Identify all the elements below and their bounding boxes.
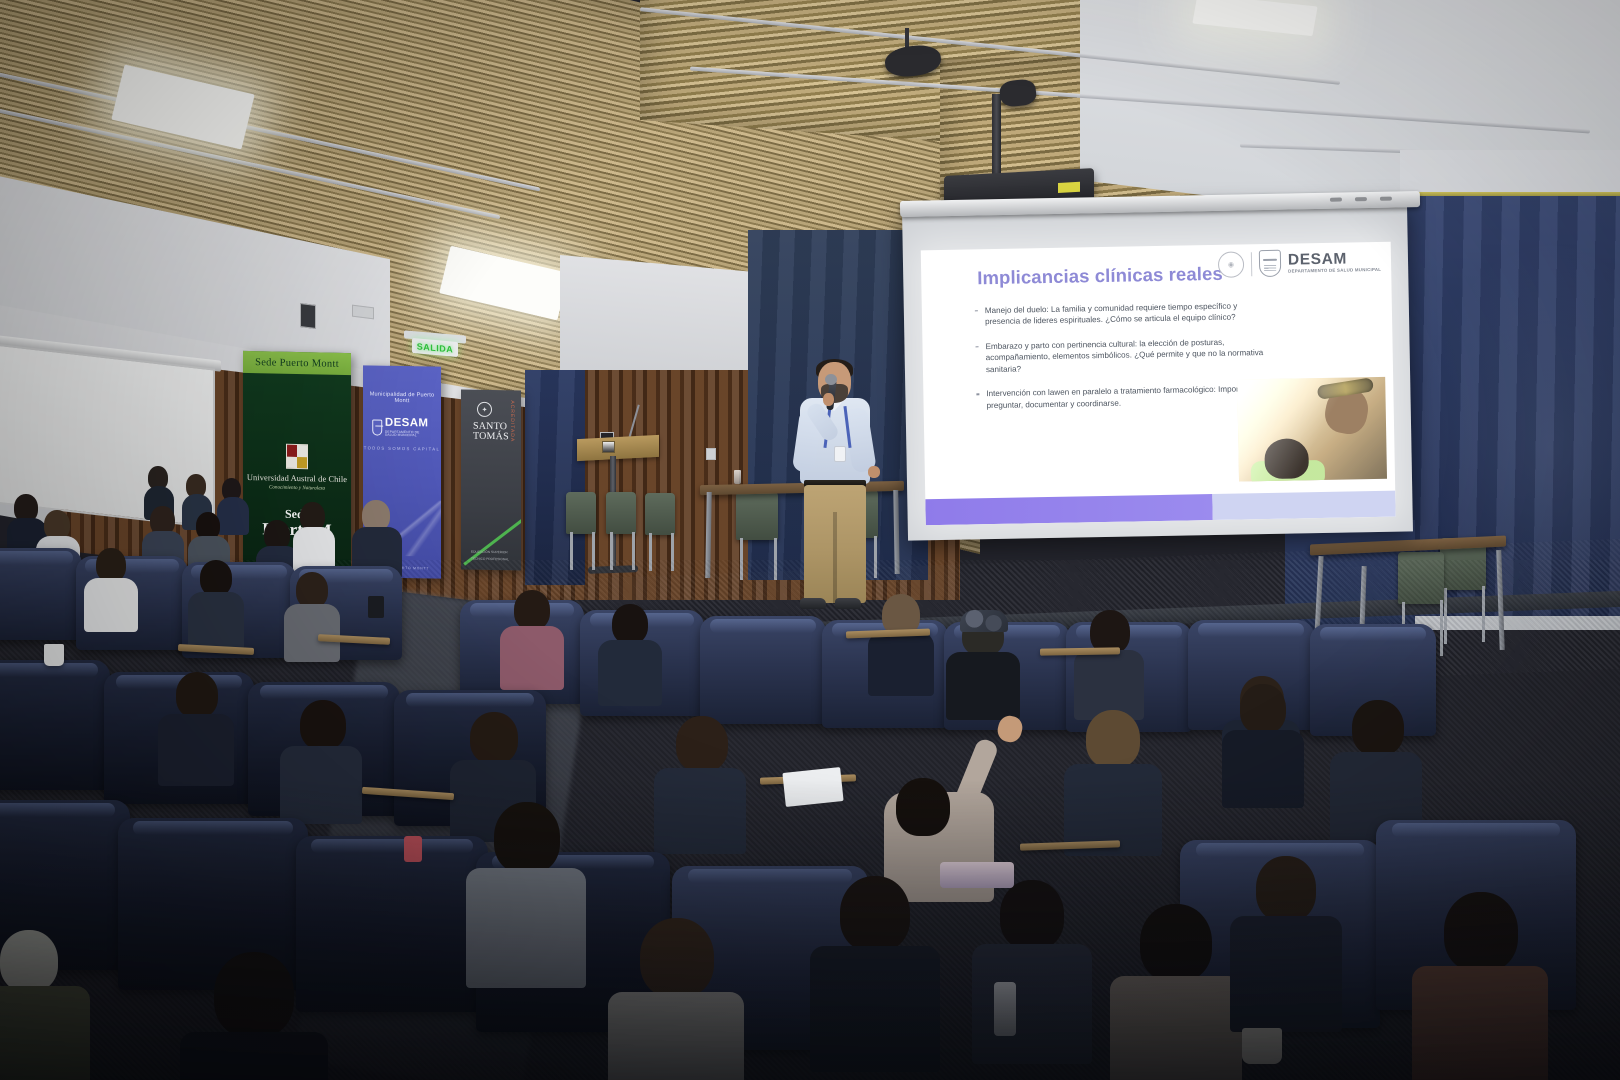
banner-uach-university: Universidad Austral de Chile bbox=[243, 473, 351, 484]
santo-tomas-seal-icon: ✦ bbox=[477, 402, 492, 417]
projector-mount-pole bbox=[992, 94, 1001, 180]
notebook bbox=[782, 767, 843, 807]
projector-label bbox=[1058, 182, 1080, 193]
microphone-head-icon bbox=[825, 374, 837, 385]
slide-accent-bar bbox=[925, 491, 1395, 526]
banner-st-side-text: ACREDITADA bbox=[509, 400, 515, 442]
camo-cap-icon bbox=[960, 610, 1008, 632]
banner-desam-word: DESAM bbox=[385, 418, 432, 430]
slide-logo-group: ◉ DESAM DEPARTAMENTO DE SALUD MUNICIPAL bbox=[1218, 248, 1382, 278]
slide-title: Implicancias clínicas reales bbox=[977, 263, 1223, 289]
lectern-control-panel bbox=[602, 441, 615, 453]
water-bottle bbox=[994, 982, 1016, 1036]
stage-chair bbox=[566, 492, 596, 534]
presenter bbox=[780, 362, 890, 614]
wall-speaker-box bbox=[352, 305, 374, 320]
screen-knob bbox=[1380, 197, 1392, 201]
logo-divider bbox=[1251, 252, 1252, 276]
presenter-hand bbox=[823, 393, 834, 406]
phone bbox=[368, 596, 384, 618]
auditorium-scene: SALIDA Implicancias clínicas reales ◉ DE… bbox=[0, 0, 1620, 1080]
desam-word: DESAM bbox=[1288, 250, 1381, 267]
slide-photo bbox=[1237, 377, 1387, 482]
stage-backdrop-left bbox=[525, 370, 585, 585]
desam-shield-icon bbox=[1259, 250, 1281, 277]
uach-crest-icon bbox=[286, 444, 308, 469]
banner-desam-logo: DESAM DEPARTAMENTO DE SALUD MUNICIPAL bbox=[372, 417, 432, 438]
coffee-cup bbox=[44, 644, 64, 666]
seat[interactable] bbox=[296, 836, 488, 1012]
banner-st-name: SANTO TOMÁS bbox=[473, 422, 509, 443]
slide-accent-bar-secondary bbox=[1212, 491, 1396, 520]
seat[interactable] bbox=[0, 548, 82, 640]
paper-cup bbox=[1242, 1028, 1282, 1064]
exit-sign-label: SALIDA bbox=[417, 341, 454, 354]
seat-tablet-arm bbox=[1040, 647, 1120, 655]
water-glass bbox=[734, 470, 741, 484]
photo-light-wash bbox=[1237, 377, 1387, 482]
banner-desam-subtitle: DEPARTAMENTO DE SALUD MUNICIPAL bbox=[385, 431, 432, 438]
screen-knob bbox=[1355, 197, 1367, 201]
slide-accent-bar-primary bbox=[925, 494, 1212, 525]
desam-subtitle: DEPARTAMENTO DE SALUD MUNICIPAL bbox=[1288, 268, 1381, 274]
wall-speaker bbox=[300, 303, 316, 329]
slide-bullet-list: Manejo del duelo: La familia y comunidad… bbox=[974, 300, 1276, 425]
presentation-slide: Implicancias clínicas reales ◉ DESAM DEP… bbox=[921, 242, 1396, 526]
banner-desam-municipality: Municipalidad de Puerto Montt bbox=[363, 391, 441, 404]
banner-uach-tagline: Conocimiento y Naturaleza bbox=[243, 484, 351, 492]
banner-desam-slogan: TODOS SOMOS CAPITAL bbox=[363, 445, 441, 451]
stage-chair bbox=[606, 492, 636, 534]
banner-uach-header-label: Sede Puerto Montt bbox=[255, 357, 339, 370]
banner-st-name-line2: TOMÁS bbox=[473, 432, 509, 443]
banner-desam-wordmark: DESAM DEPARTAMENTO DE SALUD MUNICIPAL bbox=[385, 418, 432, 438]
presenter-badge bbox=[834, 446, 846, 462]
presenter-shoe bbox=[835, 598, 861, 609]
presenter-shoe bbox=[800, 598, 826, 609]
seat[interactable] bbox=[700, 616, 826, 724]
slide-bullet: Manejo del duelo: La familia y comunidad… bbox=[974, 300, 1274, 328]
phone bbox=[404, 836, 422, 862]
screen-knob bbox=[1330, 198, 1342, 202]
seat[interactable] bbox=[0, 660, 110, 790]
stage-chair bbox=[736, 492, 778, 540]
presenter-hand-right bbox=[868, 466, 880, 478]
presenter-leg-seam bbox=[833, 512, 837, 604]
lectern bbox=[577, 435, 659, 461]
slide-bullet: Intervención con lawen en paralelo a tra… bbox=[975, 383, 1275, 411]
tissue-pack bbox=[940, 862, 1014, 888]
desam-shield-icon bbox=[372, 419, 382, 435]
municipal-crest-icon: ◉ bbox=[1218, 251, 1244, 277]
desam-wordmark: DESAM DEPARTAMENTO DE SALUD MUNICIPAL bbox=[1288, 250, 1381, 274]
projection-screen: Implicancias clínicas reales ◉ DESAM DEP… bbox=[902, 201, 1413, 540]
stage-chair bbox=[645, 493, 675, 535]
banner-santo-tomas: ✦ SANTO TOMÁS ACREDITADA EDUCACIÓN SUPER… bbox=[461, 389, 521, 570]
banner-uach-header: Sede Puerto Montt bbox=[243, 351, 351, 375]
wall-switch bbox=[706, 448, 716, 460]
slide-bullet: Embarazo y parto con pertinencia cultura… bbox=[974, 336, 1275, 376]
